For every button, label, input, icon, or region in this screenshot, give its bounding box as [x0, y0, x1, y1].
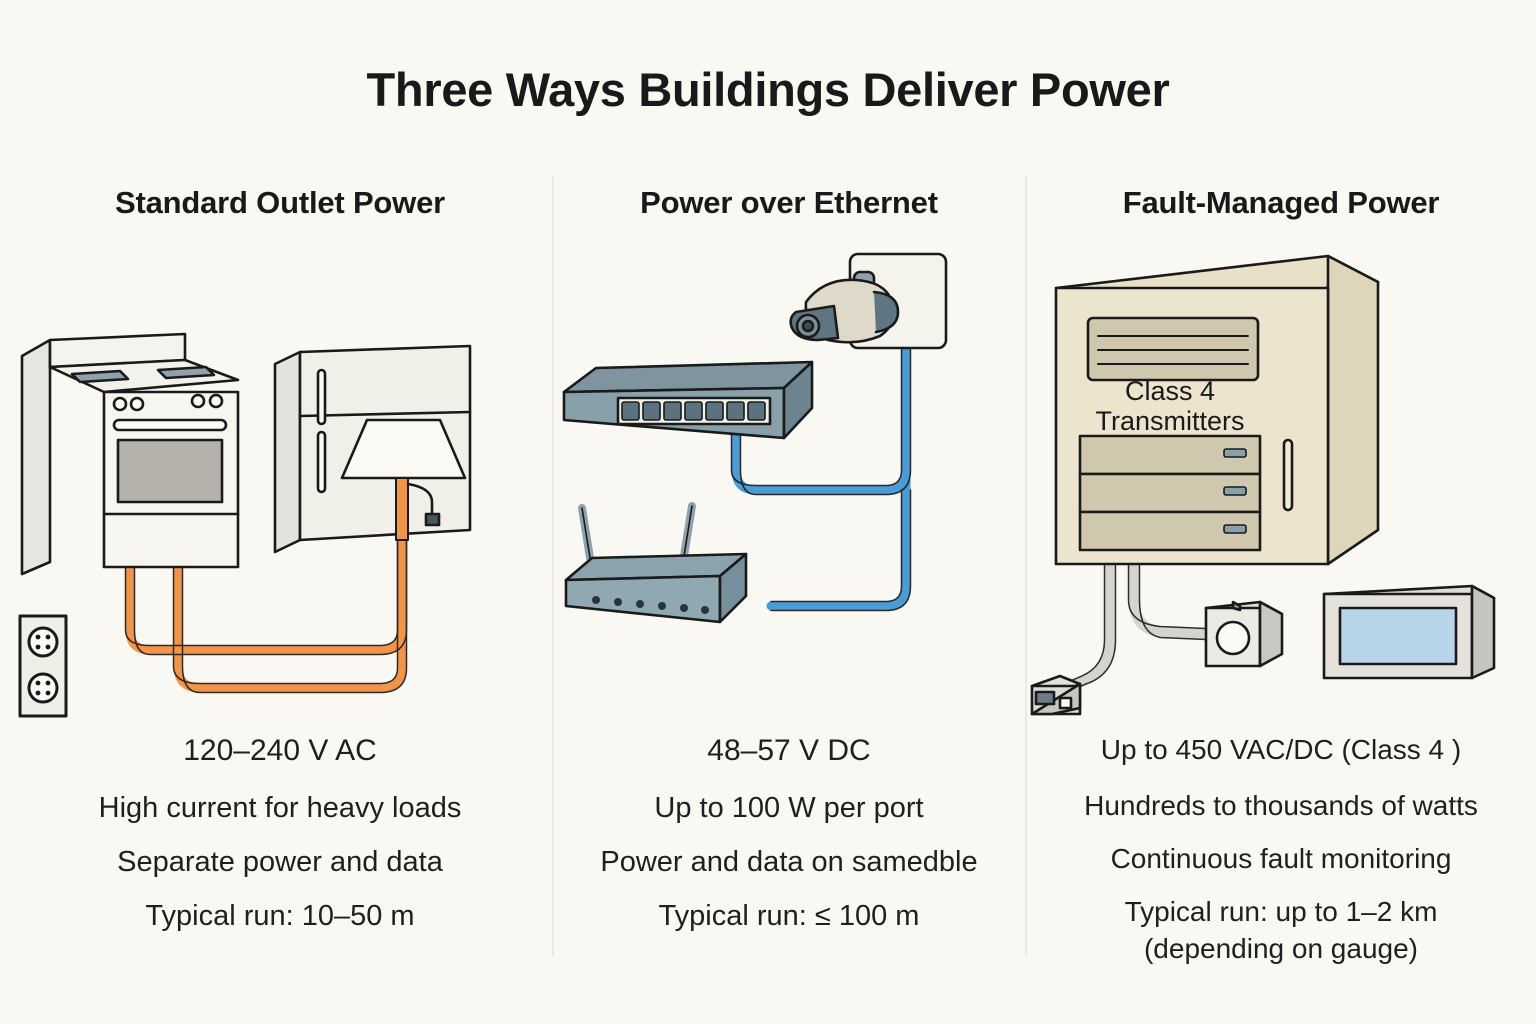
- caption-run: Typical run: ≤ 100 m: [556, 902, 1022, 931]
- wireless-router: [566, 506, 746, 622]
- captions-fault-managed-power: Up to 450 VAC/DC (Class 4 ) Hundreds to …: [1028, 736, 1534, 963]
- caption-detail-1: Hundreds to thousands of watts: [1028, 792, 1534, 820]
- switch-ports: [622, 402, 765, 420]
- panel-standard-outlet-power: Standard Outlet Power: [10, 0, 550, 1024]
- caption-voltage: Up to 450 VAC/DC (Class 4 ): [1028, 736, 1534, 764]
- router-antennas: [582, 506, 692, 558]
- panel-header-power-over-ethernet: Power over Ethernet: [556, 185, 1022, 221]
- caption-run: Typical run: 10–50 m: [10, 902, 550, 931]
- panel-header-fault-managed-power: Fault-Managed Power: [1028, 185, 1534, 221]
- captions-standard-outlet-power: 120–240 V AC High current for heavy load…: [10, 736, 550, 956]
- caption-detail-1: High current for heavy loads: [10, 794, 550, 823]
- illustration-class-4-system: Class 4 Transmitters: [1028, 240, 1534, 725]
- illustration-poe-network: [556, 240, 1022, 725]
- caption-voltage: 48–57 V DC: [556, 736, 1022, 766]
- cabinet-label-line-2: Transmitters: [1095, 406, 1244, 436]
- caption-voltage: 120–240 V AC: [10, 736, 550, 766]
- square-light-fixture: [1206, 602, 1282, 666]
- class-4-transmitter-cabinet: Class 4 Transmitters: [1056, 256, 1378, 564]
- captions-power-over-ethernet: 48–57 V DC Up to 100 W per port Power an…: [556, 736, 1022, 956]
- illustration-household-appliances: [10, 240, 550, 725]
- caption-run: Typical run: up to 1–2 km: [1028, 898, 1534, 926]
- poe-network-switch: [564, 362, 812, 438]
- cabinet-label-line-1: Class 4: [1125, 376, 1215, 406]
- transmitter-bays: [1080, 436, 1260, 550]
- cable-connector-plug: [1032, 676, 1080, 714]
- duplex-wall-outlet: [20, 616, 66, 716]
- panel-power-over-ethernet: Power over Ethernet: [556, 0, 1022, 1024]
- caption-detail-2: Power and data on samedble: [556, 848, 1022, 877]
- column-divider-1: [552, 176, 554, 956]
- caption-detail-2: Separate power and data: [10, 848, 550, 877]
- caption-detail-2: Continuous fault monitoring: [1028, 845, 1534, 873]
- caption-detail-1: Up to 100 W per port: [556, 794, 1022, 823]
- infographic-canvas: Three Ways Buildings Deliver Power Stand…: [0, 0, 1536, 1024]
- panel-fault-managed-power: Fault-Managed Power: [1028, 0, 1534, 1024]
- electric-range-oven: [22, 334, 238, 574]
- caption-run-note: (depending on gauge): [1028, 935, 1534, 963]
- column-divider-2: [1025, 176, 1027, 956]
- panel-header-standard-outlet-power: Standard Outlet Power: [10, 185, 550, 221]
- display-panel: [1324, 586, 1494, 678]
